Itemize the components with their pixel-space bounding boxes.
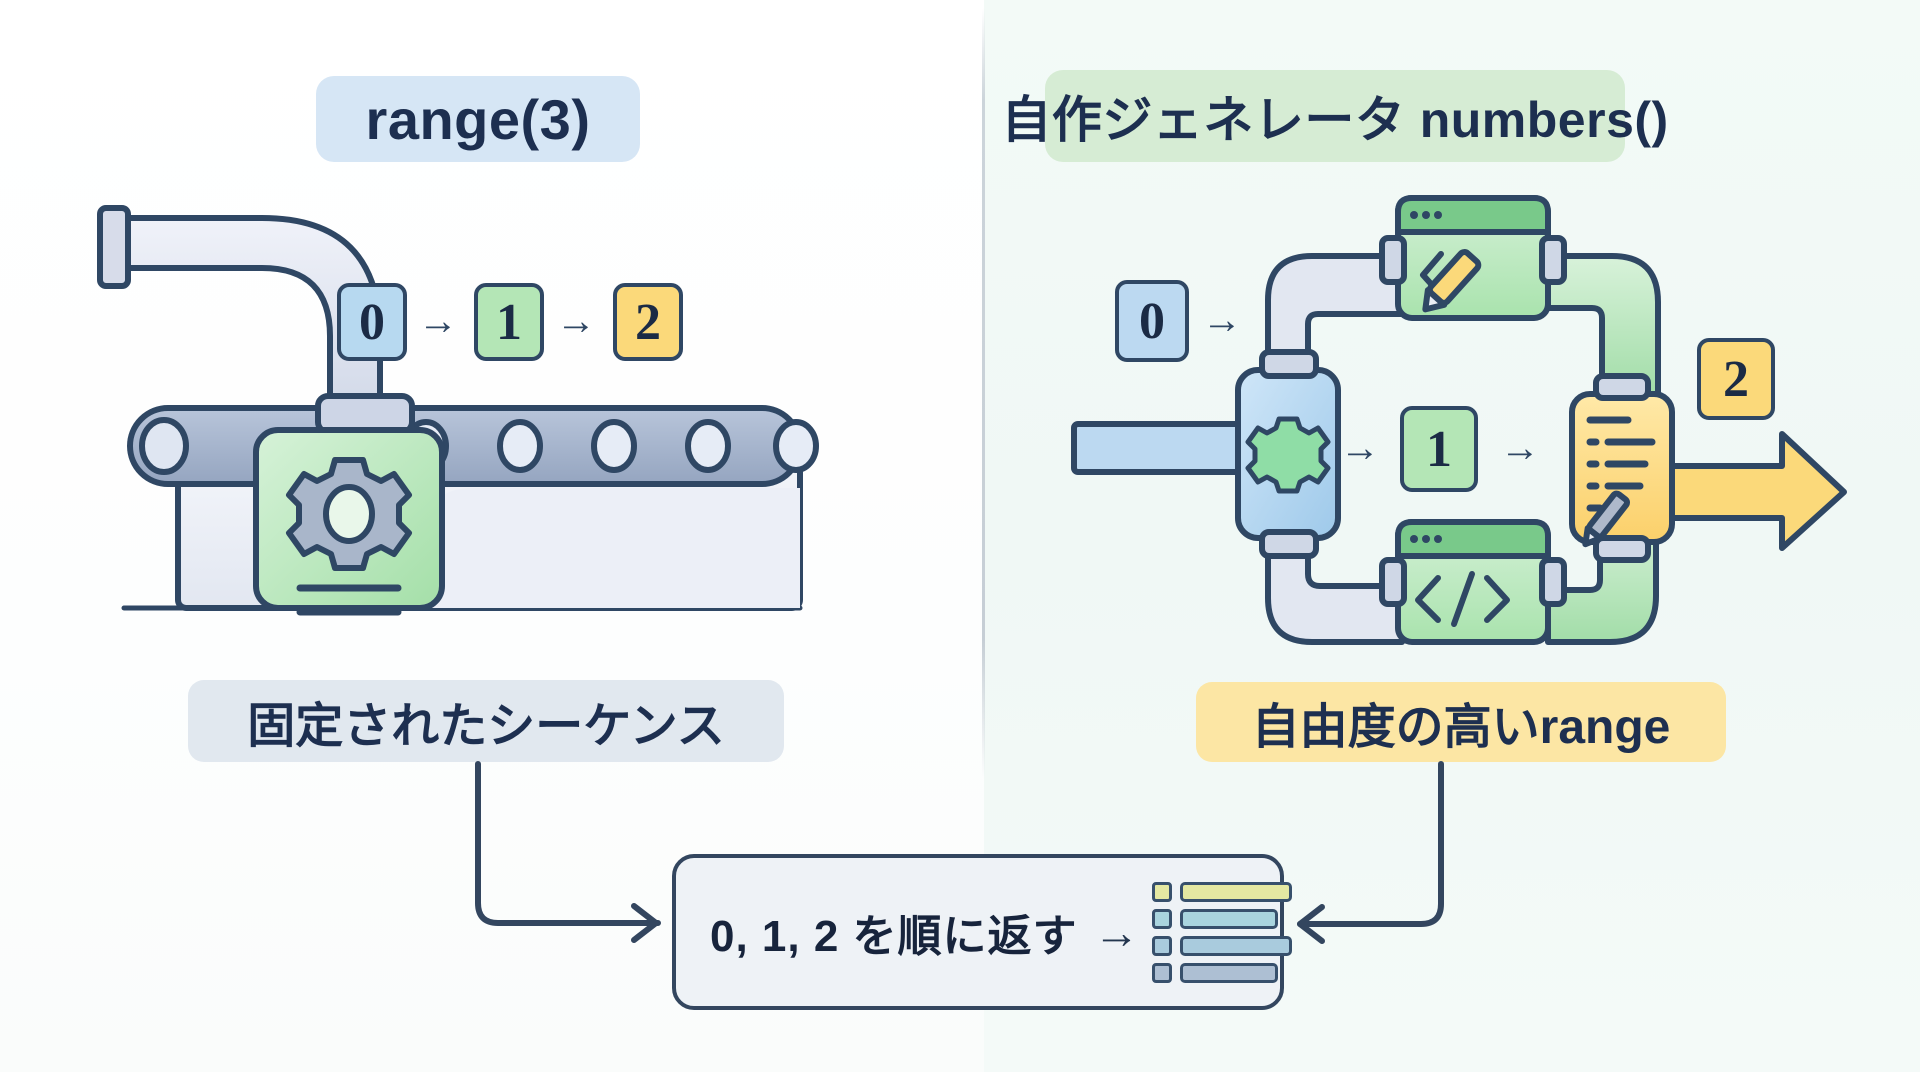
list-item: [1152, 963, 1292, 983]
list-item: [1152, 936, 1292, 956]
list-bullet: [1152, 936, 1172, 956]
left-arrow-1-to-2: →: [556, 301, 596, 341]
right-arrow-1-to-doc: →: [1500, 428, 1540, 468]
result-arrow-icon: →: [1094, 909, 1140, 955]
left-tile-1-value: 1: [496, 293, 522, 352]
left-panel-title-badge: range(3): [316, 76, 640, 162]
left-tile-0-value: 0: [359, 293, 385, 352]
right-panel-summary-label: 自由度の高いrange: [1196, 682, 1726, 762]
right-tile-0: 0: [1115, 280, 1189, 362]
list-bar: [1180, 936, 1292, 956]
list-bullet: [1152, 963, 1172, 983]
list-bar: [1180, 909, 1278, 929]
list-bar: [1180, 882, 1292, 902]
right-panel-title-badge: 自作ジェネレータ numbers(): [1045, 70, 1625, 162]
result-text: 0, 1, 2 を順に返す: [710, 900, 1078, 964]
diagram-canvas: range(3) 自作ジェネレータ numbers(): [0, 0, 1920, 1072]
right-tile-2-value: 2: [1723, 350, 1749, 409]
right-arrow-input: →: [1202, 300, 1242, 340]
left-tile-0: 0: [337, 283, 407, 361]
left-tile-2-value: 2: [635, 293, 661, 352]
ordered-list-icon: [1152, 882, 1292, 983]
left-arrow-0-to-1: →: [418, 301, 458, 341]
left-tile-2: 2: [613, 283, 683, 361]
right-arrow-valve-to-1: →: [1340, 428, 1380, 468]
right-tile-1-value: 1: [1426, 420, 1452, 479]
list-bar: [1180, 963, 1278, 983]
left-panel-summary-label: 固定されたシーケンス: [188, 680, 784, 762]
result-summary-box: 0, 1, 2 を順に返す →: [672, 854, 1284, 1010]
list-item: [1152, 882, 1292, 902]
right-tile-1: 1: [1400, 406, 1478, 492]
left-tile-1: 1: [474, 283, 544, 361]
list-bullet: [1152, 882, 1172, 902]
panel-divider: [982, 8, 985, 778]
right-tile-0-value: 0: [1139, 292, 1165, 351]
right-tile-2-visible: 2: [1697, 338, 1775, 420]
list-bullet: [1152, 909, 1172, 929]
list-item: [1152, 909, 1292, 929]
